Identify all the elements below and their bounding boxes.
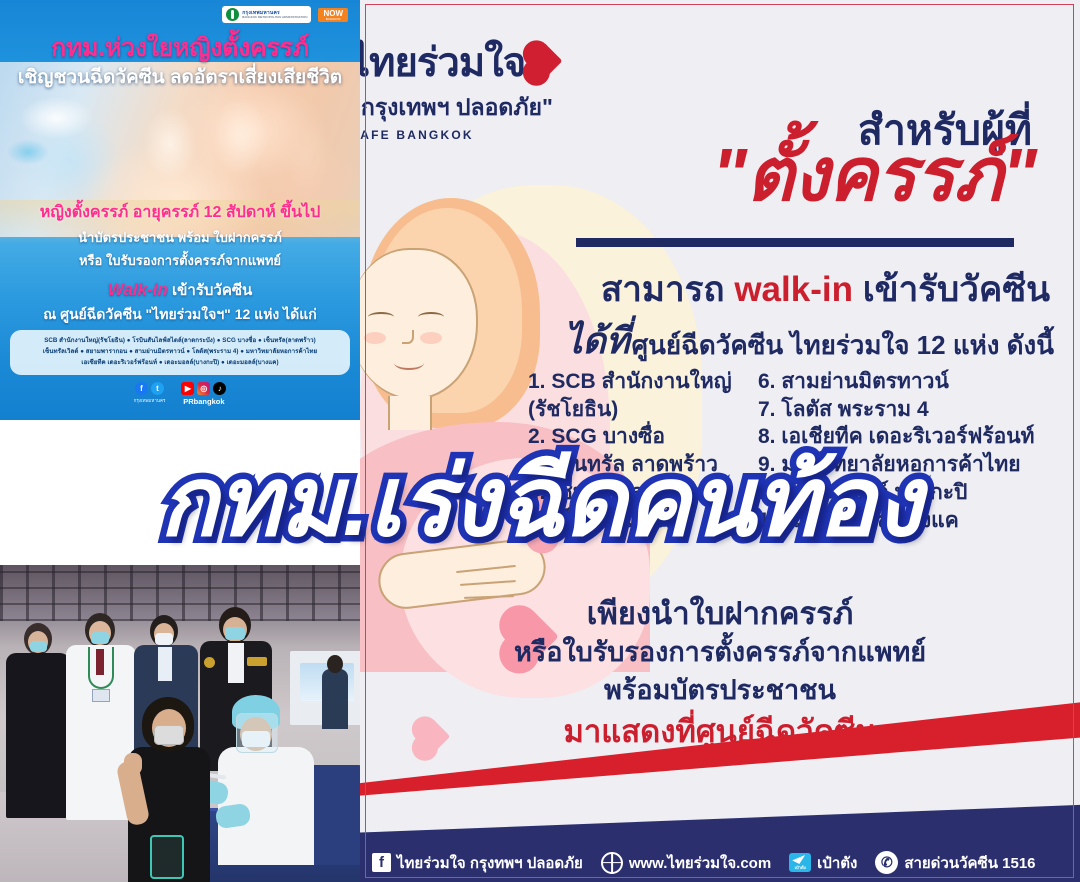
left-poster-line-3: หรือ ใบรับรองการตั้งครรภ์จากแพทย์: [0, 250, 360, 271]
photo-background-person: [322, 669, 348, 729]
center-label: โลตัส พระราม 4: [781, 398, 928, 421]
left-poster-walkin-line: Walk-in เข้ารับวัคซีน: [0, 278, 360, 302]
vaccination-event-photo: [0, 565, 376, 882]
facebook-icon: f: [372, 853, 391, 872]
walkin-keyword: walk-in: [734, 270, 853, 309]
cheek-right: [420, 332, 442, 344]
brand-english: SAFE BANGKOK: [360, 128, 558, 142]
center-item: 7. โลตัส พระราม 4: [758, 396, 1068, 424]
left-poster-headline-2: เชิญชวนฉีดวัคซีน ลดอัตราเสี่ยงเสียชีวิต: [0, 62, 360, 92]
walkin-label: Walk-in: [108, 280, 168, 299]
requirement-line-2: หรือใบรับรองการตั้งครรภ์จากแพทย์: [360, 630, 1080, 673]
smile: [394, 356, 424, 370]
overlay-headline: กทม.เร่งฉีดคนท้อง: [0, 424, 1080, 578]
pr-social-group: ▶ ◎ ♪ PRbangkok: [181, 382, 226, 406]
thai-ruam-jai-logo: ไทยร่วมใจ "กรุงเทพฯ ปลอดภัย" SAFE BANGKO…: [360, 30, 558, 142]
requirement-line-3: พร้อมบัตรประชาชน: [360, 668, 1080, 711]
center-label: สามย่านมิตรทาวน์: [781, 370, 948, 393]
left-poster-line-2: นำบัตรประชาชน พร้อม ใบฝากครรภ์: [0, 227, 360, 248]
location-statement: ได้ที่ ศูนย์ฉีดวัคซีน ไทยร่วมใจ 12 แห่ง …: [564, 312, 1054, 369]
bma-social-caption: กรุงเทพมหานคร: [134, 397, 166, 404]
footer-facebook-label: ไทยร่วมใจ กรุงทพฯ ปลอดภัย: [397, 851, 583, 875]
globe-icon: [601, 852, 623, 874]
center-item: 6. สามย่านมิตรทาวน์: [758, 368, 1068, 396]
poster-footer: f ไทยร่วมใจ กรุงทพฯ ปลอดภัย www.ไทยร่วมใ…: [360, 843, 1080, 882]
bma-logo: กรุงเทพมหานคร BANGKOK METROPOLITAN ADMIN…: [222, 6, 311, 23]
footer-hotline[interactable]: ✆ สายด่วนวัคซีน 1516: [875, 851, 1035, 875]
headline-big-title: "ตั้งครรภ์": [712, 138, 1036, 212]
now-logo-sub: BANGKOK: [323, 18, 343, 21]
center-list-row: เอเซียทีค เดอะริเวอร์ฟร้อนท์ ● เดอะมอลล์…: [18, 358, 342, 369]
center-sublabel: (รัชโยธิน): [528, 396, 750, 424]
brand-sub: "กรุงเทพฯ ปลอดภัย": [360, 90, 558, 126]
footer-website[interactable]: www.ไทยร่วมใจ.com: [601, 851, 771, 875]
bma-social-group: f t กรุงเทพมหานคร: [134, 382, 166, 404]
brand-main: ไทยร่วมใจ: [360, 30, 525, 94]
youtube-icon[interactable]: ▶: [181, 382, 194, 395]
eye-right: [418, 312, 444, 322]
facebook-icon[interactable]: f: [135, 382, 148, 395]
center-label: SCB สำนักงานใหญ่: [551, 370, 731, 393]
footer-hotline-label: สายด่วนวัคซีน 1516: [904, 851, 1035, 875]
left-poster-center-list: SCB สำนักงานใหญ่(รัชโยธิน) ● โรบินสันไลฟ…: [10, 330, 350, 375]
eye-left: [368, 312, 394, 322]
center-list-row: SCB สำนักงานใหญ่(รัชโยธิน) ● โรบินสันไลฟ…: [18, 336, 342, 347]
location-rest: ศูนย์ฉีดวัคซีน ไทยร่วมใจ 12 แห่ง ดังนี้: [632, 325, 1054, 369]
left-poster-line-4: ณ ศูนย์ฉีดวัคซีน "ไทยร่วมใจฯ" 12 แห่ง ได…: [0, 304, 360, 326]
left-poster-social-row: f t กรุงเทพมหานคร ▶ ◎ ♪ PRbangkok: [0, 382, 360, 406]
footer-app-label: เป๋าตัง: [817, 851, 857, 875]
walkin-pre: สามารถ: [601, 270, 734, 309]
phone-icon: ✆: [875, 851, 898, 874]
nose: [402, 330, 414, 344]
pr-social-caption: PRbangkok: [183, 397, 224, 406]
center-number: 1.: [528, 370, 546, 393]
center-number: 7.: [758, 398, 776, 421]
bma-logo-sub: BANGKOK METROPOLITAN ADMINISTRATION: [242, 16, 307, 19]
left-poster: กรุงเทพมหานคร BANGKOK METROPOLITAN ADMIN…: [0, 0, 360, 420]
left-poster-logos: กรุงเทพมหานคร BANGKOK METROPOLITAN ADMIN…: [222, 6, 348, 23]
walkin-statement: สามารถ walk-in เข้ารับวัคซีน: [601, 262, 1050, 317]
cheek-left: [364, 332, 386, 344]
left-poster-line-1: หญิงตั้งครรภ์ อายุครรภ์ 12 สัปดาห์ ขึ้นไ…: [0, 200, 360, 225]
bma-seal-icon: [226, 8, 239, 21]
footer-facebook[interactable]: f ไทยร่วมใจ กรุงทพฯ ปลอดภัย: [372, 851, 583, 875]
instagram-icon[interactable]: ◎: [197, 382, 210, 395]
location-prefix: ได้ที่: [564, 312, 629, 369]
footer-website-label: www.ไทยร่วมใจ.com: [629, 851, 771, 875]
heart-icon: [527, 44, 563, 80]
paotang-app-icon: เป๋าตัง: [789, 853, 811, 872]
center-number: 6.: [758, 370, 776, 393]
tiktok-icon[interactable]: ♪: [213, 382, 226, 395]
walkin-post: เข้ารับวัคซีน: [853, 270, 1050, 309]
center-list-row: เซ็นทรัลเวิลด์ ● สยามพารากอน ● สามย่านมิ…: [18, 347, 342, 358]
screenshot-root: กรุงเทพมหานคร BANGKOK METROPOLITAN ADMIN…: [0, 0, 1080, 882]
center-item: 1. SCB สำนักงานใหญ่ (รัชโยธิน): [528, 368, 750, 423]
twitter-icon[interactable]: t: [151, 382, 164, 395]
walkin-rest: เข้ารับวัคซีน: [172, 282, 252, 299]
footer-app[interactable]: เป๋าตัง เป๋าตัง: [789, 851, 857, 875]
now-logo: NOW BANGKOK: [318, 8, 348, 22]
headline-underline: [576, 238, 1014, 247]
